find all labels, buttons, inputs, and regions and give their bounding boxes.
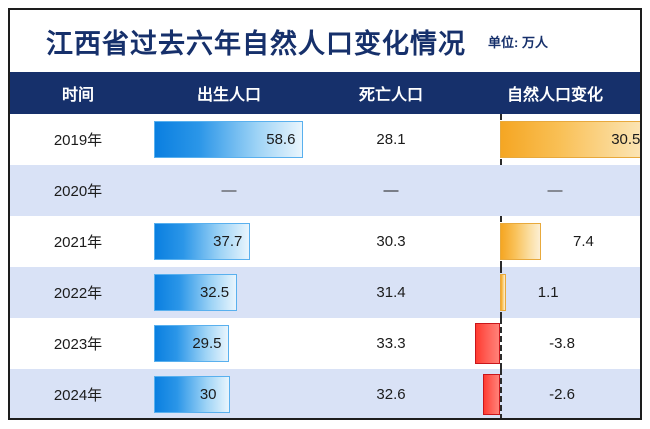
- cell-birth: 32.5: [146, 267, 312, 318]
- table-body: 2019年58.628.130.52020年———2021年37.730.37.…: [10, 114, 640, 420]
- net-value-label: 30.5: [611, 114, 640, 165]
- column-header-birth: 出生人口: [146, 81, 312, 105]
- table-row: 2021年37.730.37.4: [10, 216, 640, 267]
- cell-net: 7.4: [470, 216, 640, 267]
- net-positive-bar: [500, 274, 506, 311]
- cell-time: 2022年: [10, 267, 146, 318]
- table-header-row: 时间 出生人口 死亡人口 自然人口变化: [10, 72, 640, 114]
- cell-death: 30.3: [312, 216, 470, 267]
- net-negative-bar: [483, 374, 500, 415]
- net-value-label: -3.8: [549, 318, 575, 369]
- cell-net: -2.6: [470, 369, 640, 420]
- birth-value-label: —: [146, 165, 312, 216]
- net-negative-bar: [475, 323, 500, 364]
- zero-line: [500, 369, 502, 420]
- cell-time: 2024年: [10, 369, 146, 420]
- cell-death: 32.6: [312, 369, 470, 420]
- table-row: 2023年29.533.3-3.8: [10, 318, 640, 369]
- table-row: 2020年———: [10, 165, 640, 216]
- birth-value-label: 30: [200, 369, 217, 420]
- cell-birth: —: [146, 165, 312, 216]
- column-header-time: 时间: [10, 81, 146, 105]
- net-bar-wrap: 7.4: [470, 216, 640, 267]
- cell-death: 28.1: [312, 114, 470, 165]
- zero-line: [500, 318, 502, 369]
- birth-value-label: 58.6: [266, 114, 295, 165]
- birth-bar-wrap: 37.7: [146, 216, 312, 267]
- net-bar-wrap: —: [470, 165, 640, 216]
- cell-death: 31.4: [312, 267, 470, 318]
- page-title: 江西省过去六年自然人口变化情况: [46, 22, 466, 61]
- net-bar-wrap: -3.8: [470, 318, 640, 369]
- table-frame: 江西省过去六年自然人口变化情况 单位: 万人 时间 出生人口 死亡人口 自然人口…: [8, 8, 642, 420]
- table-row: 2022年32.531.41.1: [10, 267, 640, 318]
- cell-net: 1.1: [470, 267, 640, 318]
- cell-birth: 30: [146, 369, 312, 420]
- cell-time: 2020年: [10, 165, 146, 216]
- birth-bar-wrap: —: [146, 165, 312, 216]
- cell-net: -3.8: [470, 318, 640, 369]
- column-header-death: 死亡人口: [312, 81, 470, 105]
- cell-birth: 58.6: [146, 114, 312, 165]
- net-value-label: 1.1: [538, 267, 559, 318]
- net-value-label: -2.6: [549, 369, 575, 420]
- birth-bar-wrap: 32.5: [146, 267, 312, 318]
- net-bar-wrap: 30.5: [470, 114, 640, 165]
- table-row: 2019年58.628.130.5: [10, 114, 640, 165]
- cell-death: —: [312, 165, 470, 216]
- unit-label: 单位: 万人: [488, 32, 548, 51]
- birth-value-label: 37.7: [213, 216, 242, 267]
- birth-bar: [154, 376, 230, 413]
- birth-value-label: 29.5: [192, 318, 221, 369]
- table-row: 2024年3032.6-2.6: [10, 369, 640, 420]
- net-bar-wrap: 1.1: [470, 267, 640, 318]
- cell-time: 2019年: [10, 114, 146, 165]
- cell-birth: 37.7: [146, 216, 312, 267]
- birth-bar-wrap: 30: [146, 369, 312, 420]
- cell-death: 33.3: [312, 318, 470, 369]
- cell-time: 2021年: [10, 216, 146, 267]
- title-band: 江西省过去六年自然人口变化情况 单位: 万人: [10, 10, 640, 72]
- birth-bar-wrap: 29.5: [146, 318, 312, 369]
- cell-net: 30.5: [470, 114, 640, 165]
- net-bar-wrap: -2.6: [470, 369, 640, 420]
- column-header-net: 自然人口变化: [470, 81, 640, 105]
- cell-birth: 29.5: [146, 318, 312, 369]
- infographic-table: 江西省过去六年自然人口变化情况 单位: 万人 时间 出生人口 死亡人口 自然人口…: [0, 0, 650, 429]
- cell-net: —: [470, 165, 640, 216]
- net-value-label: 7.4: [573, 216, 594, 267]
- cell-time: 2023年: [10, 318, 146, 369]
- net-value-label: —: [470, 165, 640, 216]
- birth-bar-wrap: 58.6: [146, 114, 312, 165]
- birth-value-label: 32.5: [200, 267, 229, 318]
- net-positive-bar: [500, 223, 541, 260]
